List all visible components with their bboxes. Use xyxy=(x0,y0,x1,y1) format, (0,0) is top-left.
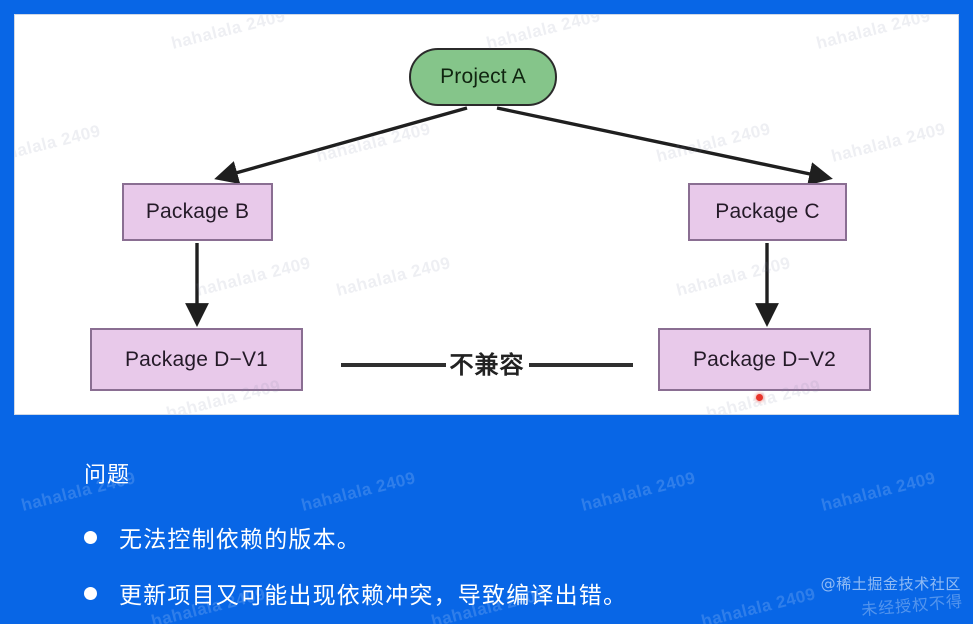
watermark-text: hahalala 2409 xyxy=(699,584,817,624)
node-package-c-label: Package C xyxy=(715,200,820,224)
edge-project-a-to-package-b xyxy=(218,108,467,178)
watermark-text: hahalala 2409 xyxy=(169,15,287,54)
node-package-d-v1[interactable]: Package D−V1 xyxy=(90,328,303,391)
node-package-d-v2[interactable]: Package D−V2 xyxy=(658,328,871,391)
node-package-c[interactable]: Package C xyxy=(688,183,847,241)
node-package-b-label: Package B xyxy=(146,200,249,224)
watermark-text: hahalala 2409 xyxy=(674,253,792,301)
incompat-line-right xyxy=(529,363,634,367)
section-heading: 问题 xyxy=(84,457,130,489)
diagram-canvas: Project A Package B Package C Package D−… xyxy=(14,14,959,415)
watermark-text: hahalala 2409 xyxy=(314,119,432,167)
cursor-indicator xyxy=(756,394,763,401)
node-package-d-v2-label: Package D−V2 xyxy=(693,348,836,372)
watermark-text: hahalala 2409 xyxy=(15,121,103,169)
bullet-dot-icon xyxy=(84,587,97,600)
watermark-text: hahalala 2409 xyxy=(579,468,697,516)
incompat-label: 不兼容 xyxy=(446,353,529,377)
slide-root: Project A Package B Package C Package D−… xyxy=(0,0,973,624)
watermark-text: hahalala 2409 xyxy=(829,119,947,167)
bullet-text: 无法控制依赖的版本。 xyxy=(119,520,361,554)
node-project-a-label: Project A xyxy=(440,65,526,89)
bullet-item: 更新项目又可能出现依赖冲突，导致编译出错。 xyxy=(84,576,627,610)
node-project-a[interactable]: Project A xyxy=(409,48,557,106)
bullet-item: 无法控制依赖的版本。 xyxy=(84,520,361,554)
watermark-text: hahalala 2409 xyxy=(299,468,417,516)
bullet-dot-icon xyxy=(84,531,97,544)
node-package-d-v1-label: Package D−V1 xyxy=(125,348,268,372)
watermark-text: hahalala 2409 xyxy=(814,15,932,54)
node-package-b[interactable]: Package B xyxy=(122,183,273,241)
watermark-text: hahalala 2409 xyxy=(819,468,937,516)
incompatibility-annotation: 不兼容 xyxy=(341,344,633,386)
bullet-text: 更新项目又可能出现依赖冲突，导致编译出错。 xyxy=(119,576,627,610)
incompat-line-left xyxy=(341,363,446,367)
watermark-text: hahalala 2409 xyxy=(654,119,772,167)
watermark-text: hahalala 2409 xyxy=(334,253,452,301)
edge-project-a-to-package-c xyxy=(497,108,829,178)
watermark-text: hahalala 2409 xyxy=(194,253,312,301)
